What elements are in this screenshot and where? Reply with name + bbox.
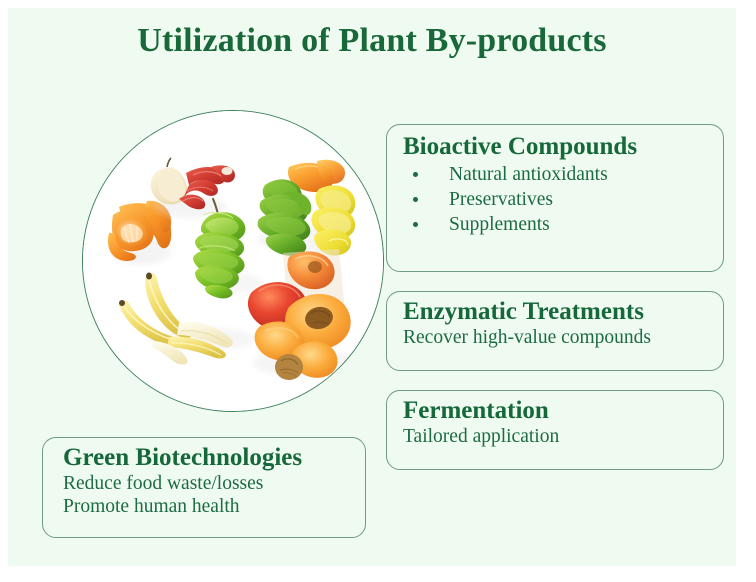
card-line: Reduce food waste/losses — [63, 472, 355, 496]
card-title-enzymatic: Enzymatic Treatments — [403, 299, 713, 326]
page-title: Utilization of Plant By-products — [8, 22, 736, 60]
list-item-label: Preservatives — [449, 189, 553, 210]
list-item-label: Natural antioxidants — [449, 164, 608, 185]
bullet-dot-icon — [413, 197, 418, 202]
fruit-collage-circle — [82, 110, 384, 412]
bullet-dot-icon — [413, 222, 418, 227]
list-item-label: Supplements — [449, 214, 550, 235]
list-item: Supplements — [403, 212, 713, 237]
card-green-biotechnologies[interactable]: Green Biotechnologies Reduce food waste/… — [42, 437, 366, 538]
infographic-page: Utilization of Plant By-products — [0, 0, 756, 582]
card-line: Recover high-value compounds — [403, 326, 713, 350]
card-fermentation[interactable]: Fermentation Tailored application — [386, 390, 724, 470]
card-title-bioactive: Bioactive Compounds — [403, 134, 713, 161]
fruit-peels-collage-image — [83, 111, 383, 411]
card-title-fermentation: Fermentation — [403, 398, 713, 425]
card-enzymatic-treatments[interactable]: Enzymatic Treatments Recover high-value … — [386, 291, 724, 371]
list-item: Natural antioxidants — [403, 162, 713, 187]
card-bioactive-compounds[interactable]: Bioactive Compounds Natural antioxidants… — [386, 124, 724, 272]
bullet-list-bioactive: Natural antioxidants Preservatives Suppl… — [403, 162, 713, 238]
slide-canvas: Utilization of Plant By-products — [8, 8, 736, 566]
card-title-green: Green Biotechnologies — [63, 445, 355, 472]
list-item: Preservatives — [403, 187, 713, 212]
bullet-dot-icon — [413, 172, 418, 177]
card-line: Promote human health — [63, 495, 355, 519]
card-line: Tailored application — [403, 425, 713, 449]
